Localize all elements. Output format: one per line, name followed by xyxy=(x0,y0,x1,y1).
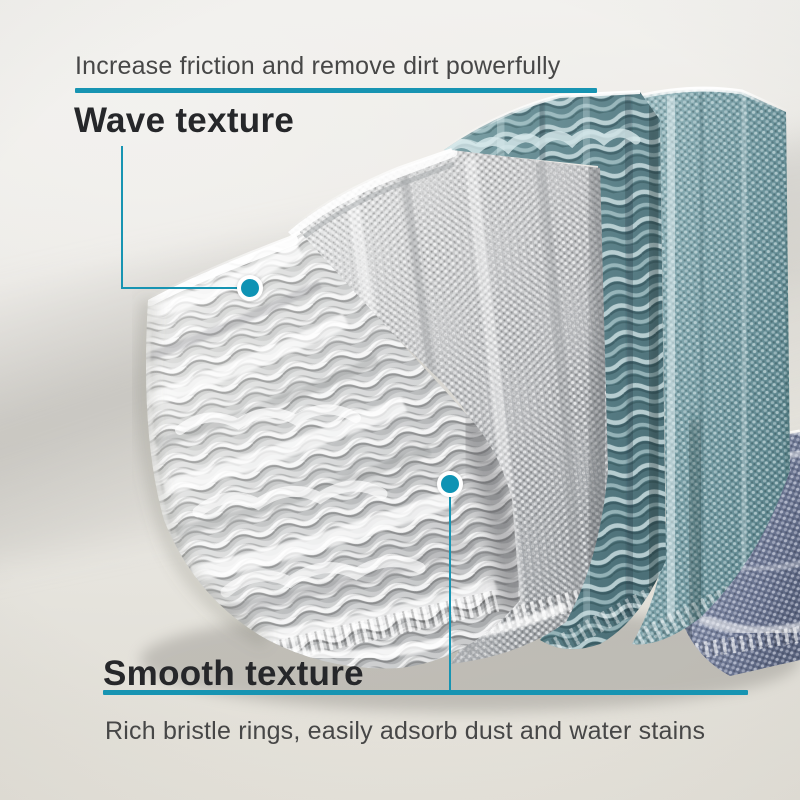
bottom-accent-rule xyxy=(103,690,748,695)
wave-marker-dot[interactable] xyxy=(237,275,263,301)
smooth-texture-heading: Smooth texture xyxy=(103,654,364,694)
wave-leader-line-vertical xyxy=(121,146,123,289)
bottom-subtitle: Rich bristle rings, easily adsorb dust a… xyxy=(105,717,705,746)
wave-leader-line-horizontal xyxy=(121,287,252,289)
wave-texture-heading: Wave texture xyxy=(74,101,294,141)
smooth-leader-line-vertical xyxy=(449,484,451,693)
top-subtitle: Increase friction and remove dirt powerf… xyxy=(75,52,560,81)
top-accent-rule xyxy=(75,88,597,93)
smooth-marker-dot[interactable] xyxy=(437,471,463,497)
product-infographic: Increase friction and remove dirt powerf… xyxy=(0,0,800,800)
